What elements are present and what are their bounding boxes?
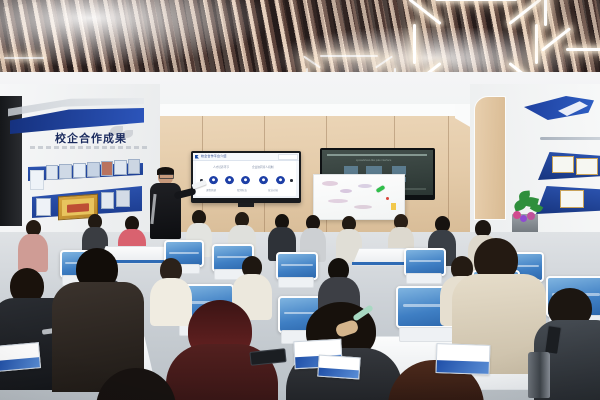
wall-headline-underline [30,146,150,149]
mesh-task-chair[interactable] [404,248,442,284]
certificate-frame [576,158,598,175]
whiteboard-marker[interactable] [376,185,386,193]
wall-frame-top [142,104,490,116]
shelf-item [114,160,127,175]
slide-node-label: 课程共建 [206,188,216,192]
presenter [146,168,186,248]
wall-headline: 校企合作成果 [36,130,146,146]
booklet[interactable] [0,342,41,372]
presenter-glasses-icon [159,174,174,179]
slide-node [225,176,234,185]
display-mount [238,203,254,207]
slide-group-label-2: 企业协同育人机制 [252,165,274,169]
right-wooden-door[interactable] [474,96,506,220]
slide-endpoint-right [290,179,293,182]
shelf-item [36,198,51,216]
slide-node-label: 双师队伍 [237,188,247,192]
display-screen[interactable]: 校企合作平台介绍 人才培养方案 人才培养环节 企业协同育人机制 课程共建 双师队… [193,153,299,198]
shelf-item [59,164,72,179]
slide-node-label: 就业对接 [268,188,278,192]
shelf-item [73,163,86,178]
audience-member [18,220,48,270]
slide-node [209,176,218,185]
shelf-item [116,190,130,207]
slide-group-label-1: 人才培养环节 [213,165,229,169]
hexagon-led-fixture-2 [536,0,600,50]
slide-node [241,176,250,185]
whiteboard-sticky-note[interactable] [391,203,396,210]
shelf-item [128,159,140,174]
certificate-frame [560,190,584,208]
slide-corner-tab [278,154,298,160]
wall-notice [30,170,44,190]
booklet[interactable] [317,355,360,380]
whiteboard-magnet[interactable] [386,197,389,200]
right-wall-accent-line [540,137,600,140]
plant-flower [527,212,535,220]
shelf-item [46,165,58,180]
shelf-item [101,192,114,209]
shelf-item [101,161,113,176]
slide-node [259,176,268,185]
audience-member [96,368,176,400]
wall-mounted-display[interactable]: 校企合作平台介绍 人才培养方案 人才培养环节 企业协同育人机制 课程共建 双师队… [191,151,301,203]
thermos-flask[interactable] [528,352,550,398]
shelf-item [87,162,100,177]
classroom-photo: 校企合作成果 校企合作平台介绍 人才培养方案 人才培养环节 企业协同育人机制 [0,0,600,400]
certificate-frame [552,156,574,173]
booklet[interactable] [435,343,490,375]
audience-member [52,248,144,388]
slide-title: 校企合作平台介绍 [201,154,227,158]
slide-canvas: 人才培养环节 企业协同育人机制 课程共建 双师队伍 就业对接 [196,161,296,196]
mesh-task-chair[interactable] [276,252,314,288]
plant-flower [520,215,527,222]
slide-node [276,176,285,185]
secondary-screen-title: spreadsheet-like pale interface [356,159,391,162]
